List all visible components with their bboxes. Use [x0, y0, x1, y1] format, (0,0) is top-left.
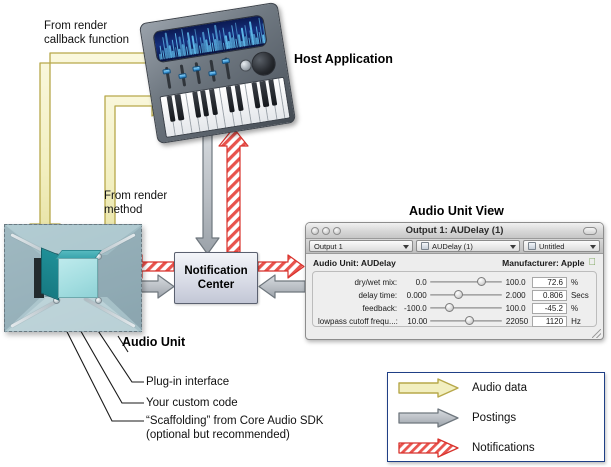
- notification-center-box: Notification Center: [174, 252, 258, 304]
- parameter-name: feedback:: [318, 304, 402, 313]
- label-host-application: Host Application: [294, 52, 393, 66]
- callout-scaffolding: “Scaffolding” from Core Audio SDK: [146, 414, 323, 429]
- arrow-posting-view-to-center: [259, 275, 305, 298]
- slider-knob[interactable]: [477, 277, 486, 286]
- audio-unit-custom-code: [58, 258, 98, 298]
- parameter-unit: %: [567, 304, 591, 313]
- preset-value: Untitled: [539, 242, 564, 251]
- parameter-slider[interactable]: [430, 302, 502, 314]
- postings-arrow-icon: [398, 408, 460, 428]
- parameter-name: dry/wet mix:: [318, 278, 402, 287]
- window-titlebar[interactable]: Output 1: AUDelay (1): [306, 223, 603, 239]
- slider-knob[interactable]: [454, 290, 463, 299]
- label-from-render-callback: From render callback function: [44, 20, 129, 47]
- chevron-down-icon: [510, 245, 516, 249]
- notifications-arrow-icon: [398, 438, 460, 458]
- preset-popup[interactable]: Untitled: [523, 240, 600, 252]
- waveform-display: [152, 14, 268, 63]
- arrow-notification-to-view: [258, 255, 304, 278]
- parameter-slider[interactable]: [430, 315, 502, 327]
- slider-track: [430, 307, 502, 309]
- parameter-value-field[interactable]: 1120: [532, 316, 567, 327]
- output-device-popup[interactable]: Output 1: [309, 240, 413, 252]
- parameter-value-field[interactable]: -45.2: [532, 303, 567, 314]
- parameter-min: 10.00: [403, 317, 430, 326]
- label-from-render-method: From render method: [104, 190, 167, 217]
- audio-unit-scaffolding: [4, 224, 142, 332]
- audio-unit-name-label: Audio Unit: AUDelay: [313, 258, 396, 268]
- parameter-slider[interactable]: [430, 289, 502, 301]
- parameter-max: 2.000: [502, 291, 532, 300]
- label-audio-unit-view: Audio Unit View: [409, 204, 504, 218]
- parameter-row: delay time:0.0002.0000.806Secs: [318, 289, 591, 301]
- manufacturer-label: Manufacturer: Apple: [502, 258, 584, 268]
- parameter-max: 22050: [502, 317, 532, 326]
- slider-track: [430, 281, 502, 283]
- toolbar-toggle-button[interactable]: [583, 227, 597, 235]
- parameter-min: -100.0: [402, 304, 430, 313]
- legend-box: Audio data Postings: [387, 372, 605, 462]
- minimize-icon[interactable]: [322, 227, 330, 235]
- parameter-min: 0.0: [402, 278, 430, 287]
- chevron-down-icon: [403, 245, 409, 249]
- legend-item-audio-data: Audio data: [388, 373, 604, 403]
- parameter-list: dry/wet mix:0.0100.072.6%delay time:0.00…: [312, 271, 597, 327]
- synth-body: [139, 2, 296, 144]
- arrow-notification-to-host: [219, 128, 248, 252]
- slider-track: [430, 294, 502, 296]
- parameter-max: 100.0: [502, 304, 532, 313]
- parameter-value-field[interactable]: 0.806: [532, 290, 567, 301]
- legend-label-postings: Postings: [472, 412, 516, 424]
- slider-knob[interactable]: [465, 316, 474, 325]
- au-info-header: Audio Unit: AUDelay Manufacturer: Apple …: [306, 254, 603, 271]
- callout-scaffolding-note: (optional but recommended): [146, 428, 290, 443]
- label-audio-unit: Audio Unit: [122, 335, 185, 349]
- host-application-device: [139, 2, 297, 150]
- apple-logo-icon: : [589, 257, 597, 268]
- parameter-row: lowpass cutoff frequ...:10.00220501120Hz: [318, 315, 591, 327]
- legend-item-postings: Postings: [388, 403, 604, 433]
- audio-unit-icon: [421, 242, 429, 250]
- arrow-posting-host-to-center: [196, 126, 219, 254]
- parameter-min: 0.000: [402, 291, 430, 300]
- parameter-name: lowpass cutoff frequ...:: [318, 317, 403, 326]
- synth-knob: [250, 50, 277, 77]
- parameter-value-field[interactable]: 72.6: [532, 277, 567, 288]
- audio-unit-value: AUDelay (1): [432, 242, 473, 251]
- window-title: Output 1: AUDelay (1): [306, 225, 603, 236]
- legend-label-audio-data: Audio data: [472, 382, 527, 394]
- audio-unit-cube: [4, 224, 142, 340]
- parameter-unit: Hz: [567, 317, 591, 326]
- audio-unit-view-window[interactable]: Output 1: AUDelay (1) Output 1 AUDelay (…: [305, 222, 604, 340]
- zoom-icon[interactable]: [333, 227, 341, 235]
- parameter-unit: Secs: [567, 291, 591, 300]
- parameter-row: feedback:-100.0100.0-45.2%: [318, 302, 591, 314]
- close-icon[interactable]: [311, 227, 319, 235]
- au-toolbar[interactable]: Output 1 AUDelay (1) Untitled: [306, 239, 603, 254]
- audio-data-arrow-icon: [398, 378, 460, 398]
- diagram-canvas: Notification Center: [0, 0, 611, 467]
- callout-custom-code: Your custom code: [146, 396, 238, 411]
- window-controls[interactable]: [311, 227, 341, 235]
- callout-plugin-interface: Plug-in interface: [146, 375, 229, 390]
- piano-keybed: [159, 77, 290, 138]
- parameter-name: delay time:: [318, 291, 402, 300]
- parameter-row: dry/wet mix:0.0100.072.6%: [318, 276, 591, 288]
- parameter-slider[interactable]: [430, 276, 502, 288]
- legend-item-notifications: Notifications: [388, 433, 604, 463]
- resize-grip[interactable]: [592, 329, 601, 338]
- parameter-unit: %: [567, 278, 591, 287]
- preset-icon: [528, 242, 536, 250]
- legend-label-notifications: Notifications: [472, 442, 535, 454]
- parameter-max: 100.0: [502, 278, 532, 287]
- audio-unit-popup[interactable]: AUDelay (1): [416, 240, 520, 252]
- slider-knob[interactable]: [445, 303, 454, 312]
- output-device-value: Output 1: [314, 242, 343, 251]
- chevron-down-icon: [590, 245, 596, 249]
- notification-center-label: Notification Center: [175, 264, 257, 292]
